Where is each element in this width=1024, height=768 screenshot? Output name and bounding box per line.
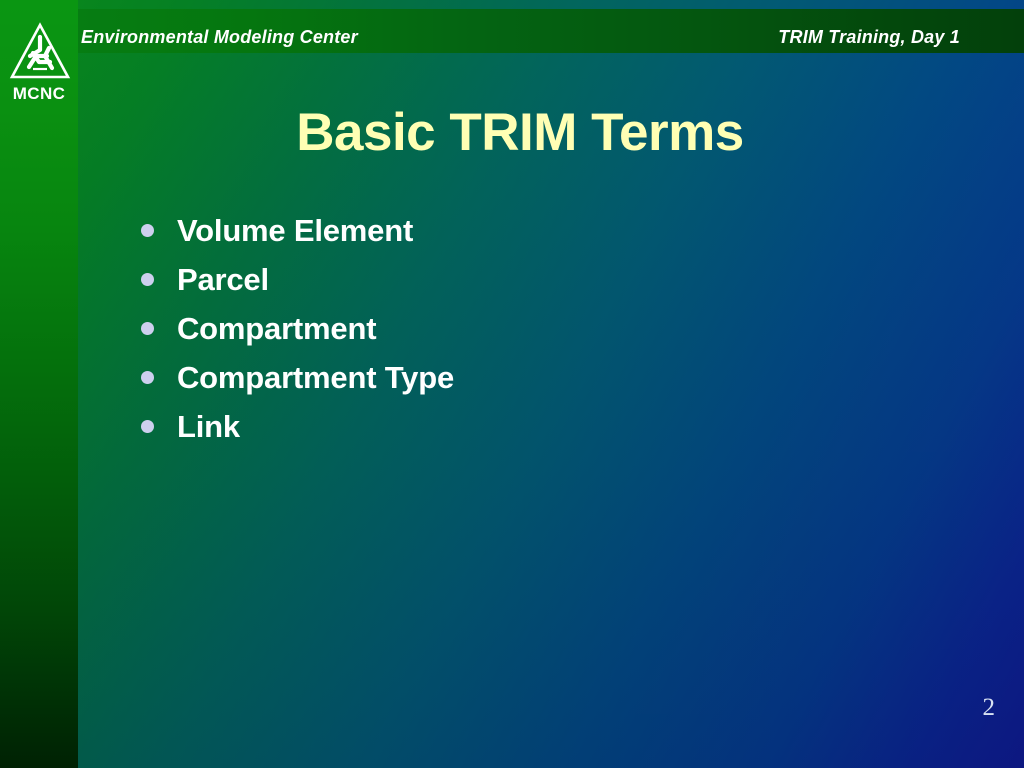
list-item-label: Link	[177, 410, 240, 444]
disc-bullet-icon	[141, 371, 154, 384]
list-item: Compartment	[136, 304, 916, 353]
disc-bullet-icon	[141, 420, 154, 433]
list-item: Volume Element	[136, 206, 916, 255]
list-item-label: Volume Element	[177, 214, 413, 248]
presentation-slide: MCNC Environmental Modeling Center TRIM …	[0, 0, 1024, 768]
list-item: Parcel	[136, 255, 916, 304]
list-item: Link	[136, 402, 916, 451]
mcnc-triangle-logo-icon	[9, 22, 71, 82]
slide-page-number: 2	[983, 695, 996, 721]
list-item-label: Compartment Type	[177, 361, 454, 395]
list-item-label: Parcel	[177, 263, 269, 297]
bullet-list: Volume Element Parcel Compartment Compar…	[136, 206, 916, 451]
header-course-label: TRIM Training, Day 1	[778, 27, 960, 48]
slide-sidebar-strip	[0, 0, 78, 768]
list-item-label: Compartment	[177, 312, 376, 346]
disc-bullet-icon	[141, 224, 154, 237]
disc-bullet-icon	[141, 322, 154, 335]
slide-title: Basic TRIM Terms	[140, 104, 900, 162]
disc-bullet-icon	[141, 273, 154, 286]
list-item: Compartment Type	[136, 353, 916, 402]
header-organization-label: Environmental Modeling Center	[81, 27, 358, 48]
mcnc-logo-label: MCNC	[0, 84, 78, 103]
